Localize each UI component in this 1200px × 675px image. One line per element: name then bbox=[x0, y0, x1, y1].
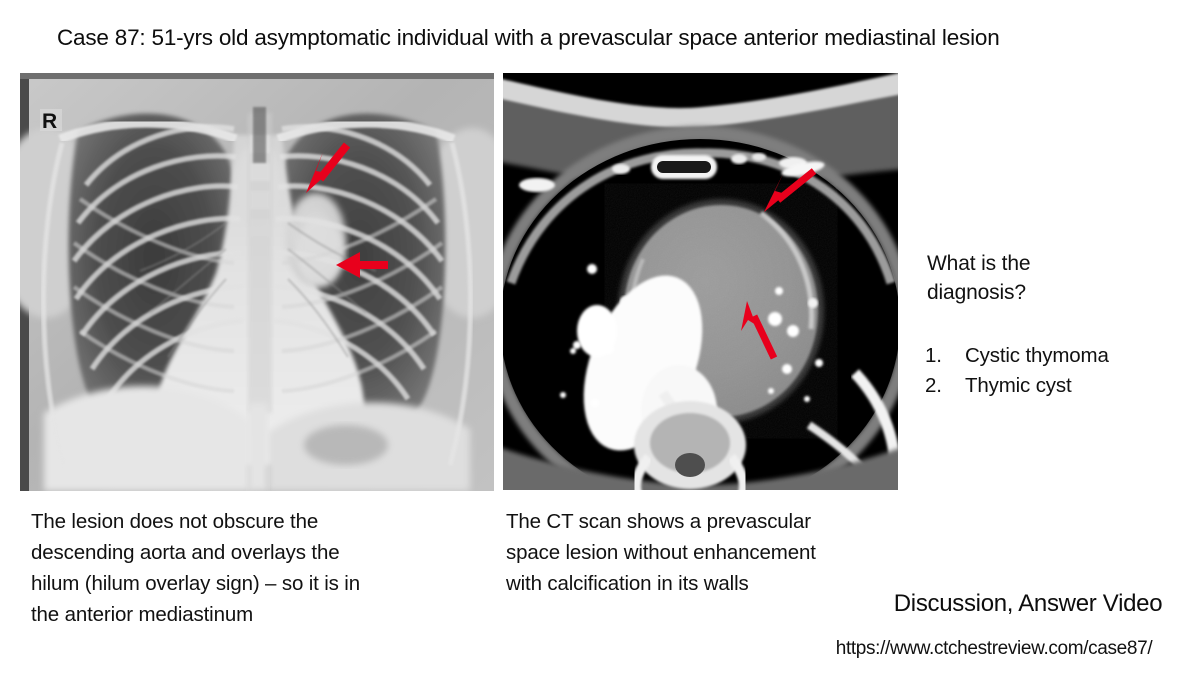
sternum bbox=[651, 155, 717, 179]
answer-option-1-label: Cystic thymoma bbox=[965, 341, 1109, 371]
answer-option-1[interactable]: 1. Cystic thymoma bbox=[925, 341, 1190, 371]
xray-caption-line-3: hilum (hilum overlay sign) – so it is in bbox=[31, 568, 461, 599]
ct-caption-line-2: space lesion without enhancement bbox=[506, 537, 946, 568]
ct-scan-image[interactable] bbox=[503, 73, 898, 490]
question-line-1: What is the bbox=[927, 249, 1187, 278]
svg-text:R: R bbox=[42, 110, 57, 133]
answer-option-2-number: 2. bbox=[925, 371, 965, 401]
case-slide: Case 87: 51-yrs old asymptomatic individ… bbox=[0, 0, 1200, 675]
answer-option-2[interactable]: 2. Thymic cyst bbox=[925, 371, 1190, 401]
discussion-answer-video-label[interactable]: Discussion, Answer Video bbox=[858, 590, 1198, 618]
chest-xray-render: R bbox=[20, 73, 494, 491]
ct-scan-render bbox=[503, 73, 898, 490]
question-line-2: diagnosis? bbox=[927, 278, 1187, 307]
ct-caption: The CT scan shows a prevascular space le… bbox=[506, 506, 946, 599]
answer-option-1-number: 1. bbox=[925, 341, 965, 371]
case-url-link[interactable]: https://www.ctchestreview.com/case87/ bbox=[792, 637, 1196, 661]
chest-xray-image[interactable]: R bbox=[20, 73, 494, 491]
ct-caption-line-1: The CT scan shows a prevascular bbox=[506, 506, 946, 537]
xray-caption-line-1: The lesion does not obscure the bbox=[31, 506, 461, 537]
xray-caption: The lesion does not obscure the descendi… bbox=[31, 506, 461, 630]
answer-options-list: 1. Cystic thymoma 2. Thymic cyst bbox=[925, 341, 1190, 401]
xray-caption-line-2: descending aorta and overlays the bbox=[31, 537, 461, 568]
xray-caption-line-4: the anterior mediastinum bbox=[31, 599, 461, 630]
question-prompt: What is the diagnosis? bbox=[927, 249, 1187, 307]
page-title: Case 87: 51-yrs old asymptomatic individ… bbox=[57, 24, 1157, 52]
side-marker-r: R bbox=[40, 109, 62, 133]
answer-option-2-label: Thymic cyst bbox=[965, 371, 1072, 401]
